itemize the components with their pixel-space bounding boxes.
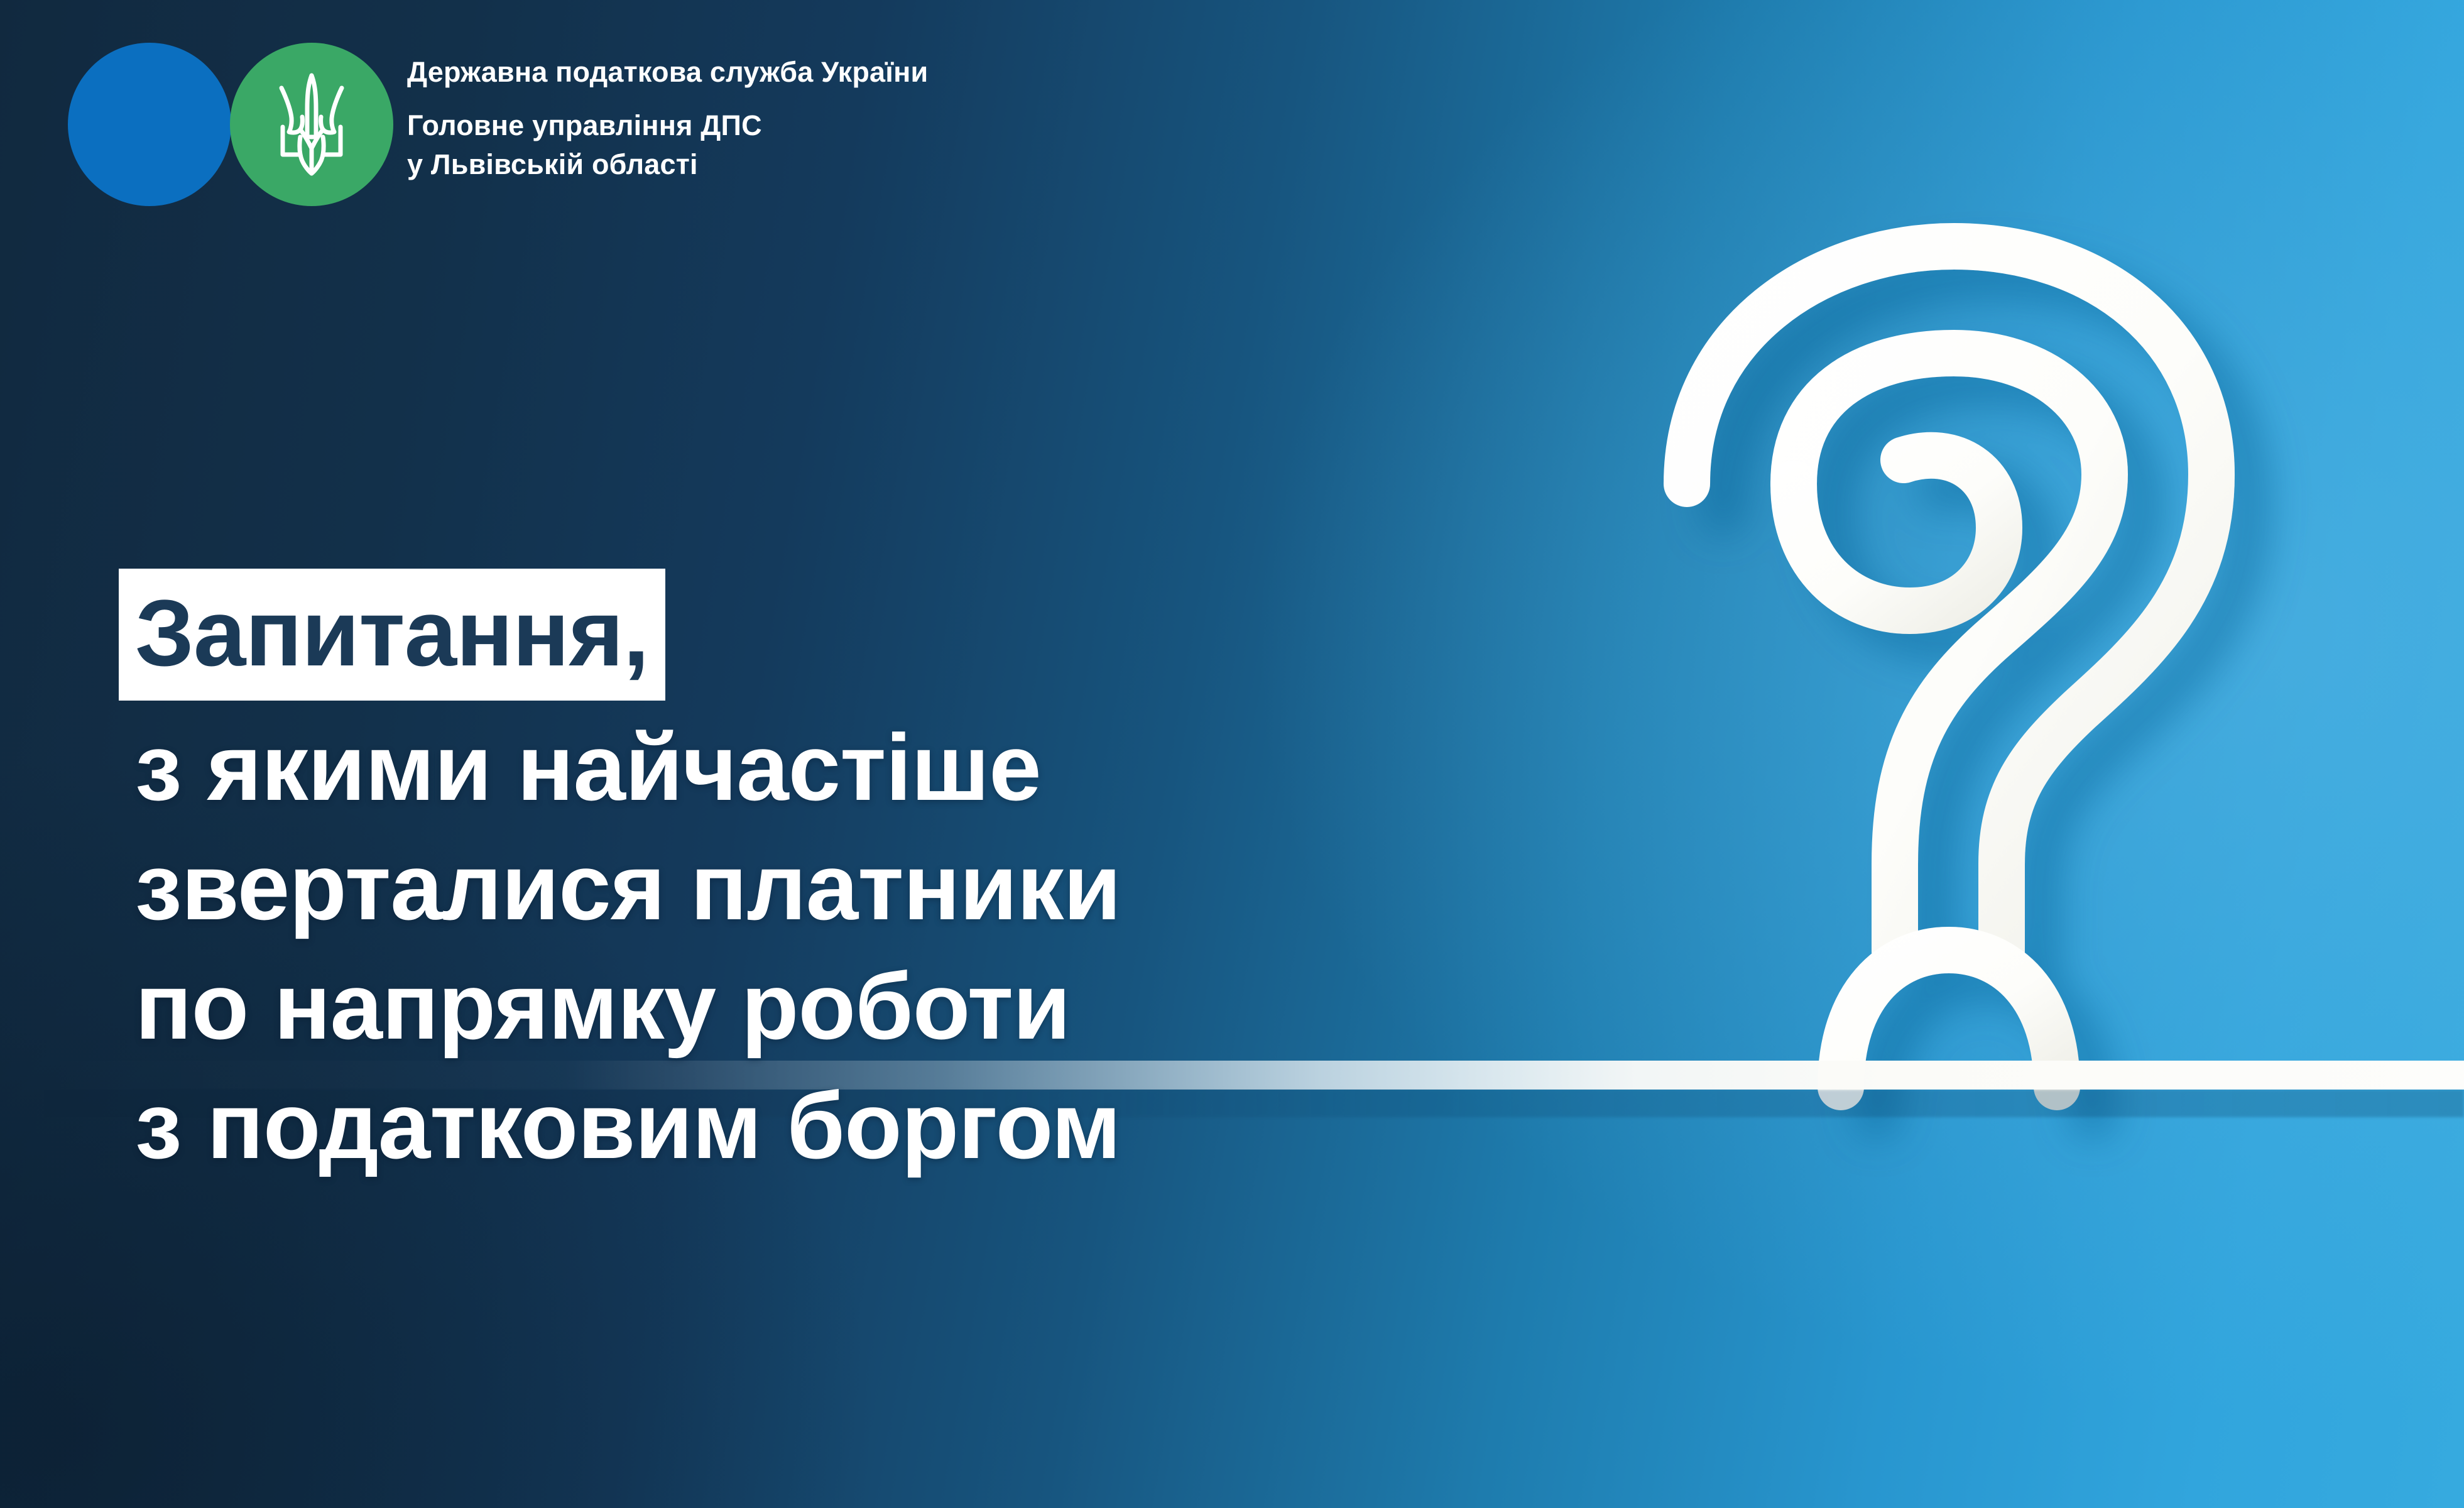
- headline-line-5: з податковим боргом: [135, 1078, 1454, 1173]
- headline-line-2: з якими найчастіше: [135, 719, 1454, 815]
- organization-name: Державна податкова служба України Головн…: [407, 43, 928, 184]
- org-line-2: Головне управління ДПС: [407, 106, 928, 145]
- logo-circle-blue: [68, 43, 231, 206]
- organization-logo: Державна податкова служба України Головн…: [62, 43, 928, 206]
- logo-marks: [62, 43, 382, 206]
- org-line-3: у Львівській області: [407, 145, 928, 184]
- banner-canvas: Державна податкова служба України Головн…: [0, 0, 2464, 1508]
- tryzub-icon: [273, 72, 351, 177]
- headline-block: Запитання, з якими найчастіше зверталися…: [135, 569, 1454, 1197]
- question-mark-icon: [1577, 188, 2318, 1106]
- headline-line-1: Запитання,: [119, 569, 665, 701]
- headline-line-3: зверталися платники: [135, 839, 1454, 934]
- headline-line-1-wrap: Запитання,: [135, 569, 1454, 719]
- headline-line-4: по напрямку роботи: [135, 958, 1454, 1054]
- org-line-1: Державна податкова служба України: [407, 53, 928, 92]
- logo-circle-green: [230, 43, 393, 206]
